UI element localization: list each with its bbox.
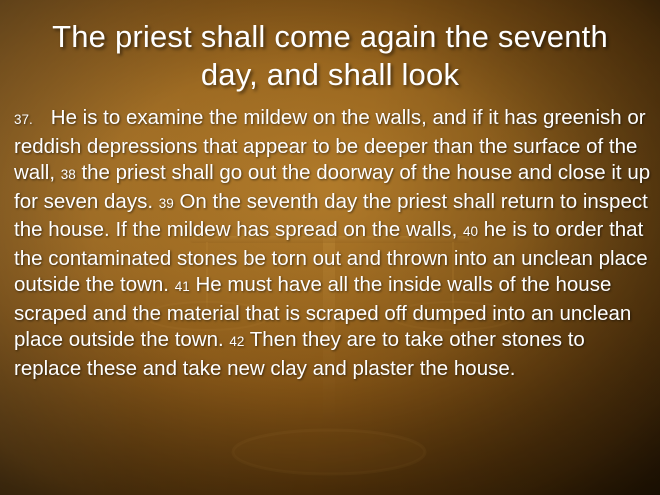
verse-number-38: 38 xyxy=(61,167,76,182)
verse-number-39: 39 xyxy=(159,196,174,211)
verse-number-40: 40 xyxy=(463,224,478,239)
slide: The priest shall come again the seventh … xyxy=(0,0,660,495)
slide-body-paragraph: 37.He is to examine the mildew on the wa… xyxy=(14,105,652,382)
verse-number-41: 41 xyxy=(175,279,190,294)
slide-title: The priest shall come again the seventh … xyxy=(30,18,630,94)
verse-number-37: 37. xyxy=(14,112,33,127)
verse-number-42: 42 xyxy=(229,334,244,349)
slide-body-text: He is to examine the mildew on the walls… xyxy=(14,106,650,380)
slide-body: 37.He is to examine the mildew on the wa… xyxy=(14,105,652,382)
